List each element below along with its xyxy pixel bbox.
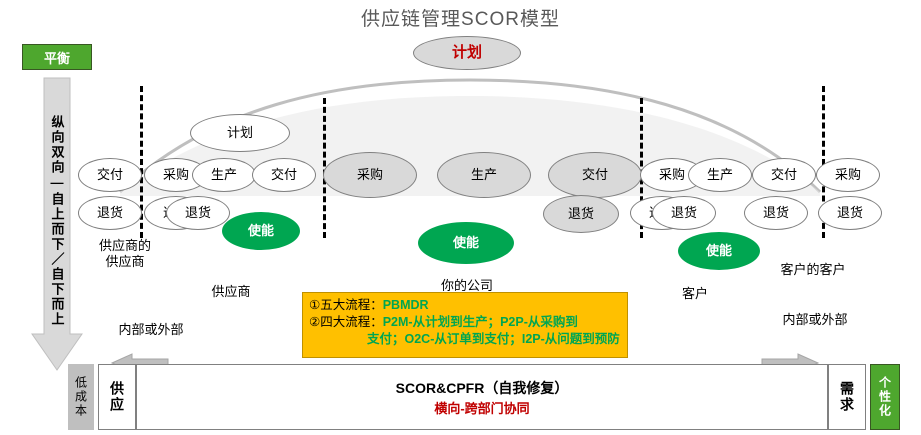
internal-external-left: 内部或外部 — [86, 322, 216, 338]
node-c2-return[interactable]: 退货 — [543, 195, 619, 233]
node-c3-return-2[interactable]: 退货 — [652, 196, 716, 230]
internal-external-right: 内部或外部 — [740, 312, 890, 328]
note-line1-value: PBMDR — [383, 298, 429, 312]
node-c4-source[interactable]: 采购 — [816, 158, 880, 192]
node-c0-deliver[interactable]: 交付 — [78, 158, 142, 192]
node-c1-enable[interactable]: 使能 — [222, 212, 300, 250]
node-c3-make[interactable]: 生产 — [688, 158, 752, 192]
bottom-main-bar: SCOR&CPFR（自我修复） 横向-跨部门协同 — [136, 364, 828, 430]
node-plan-bubble[interactable]: 计划 — [190, 114, 290, 152]
supply-box: 供应 — [98, 364, 136, 430]
note-line1-prefix: ①五大流程： — [309, 298, 383, 312]
note-line3-value: 支付；O2C-从订单到支付；I2P-从问题到预防 — [367, 332, 620, 346]
node-top-plan[interactable]: 计划 — [413, 36, 521, 70]
note-line2-value: P2M-从计划到生产；P2P-从采购到 — [383, 315, 578, 329]
node-c4-return[interactable]: 退货 — [744, 196, 808, 230]
node-c4-return-2[interactable]: 退货 — [818, 196, 882, 230]
scor-diagram: 供应链管理SCOR模型 平衡 纵向双向—自上而下／自下而上 低成本 计划 计划 … — [0, 0, 921, 435]
node-c2-enable[interactable]: 使能 — [418, 222, 514, 264]
caption-supplier: 供应商 — [176, 284, 286, 300]
personalization-box: 个性化 — [870, 364, 900, 430]
bottom-main-line1: SCOR&CPFR（自我修复） — [396, 378, 569, 398]
caption-customers-customer: 客户的客户 — [728, 262, 898, 278]
node-c1-deliver[interactable]: 交付 — [252, 158, 316, 192]
node-c2-source[interactable]: 采购 — [323, 152, 417, 198]
node-c2-make[interactable]: 生产 — [437, 152, 531, 198]
node-c4-deliver[interactable]: 交付 — [752, 158, 816, 192]
bottom-main-line2: 横向-跨部门协同 — [434, 398, 529, 417]
node-c2-deliver[interactable]: 交付 — [548, 152, 642, 198]
process-note: ①五大流程：PBMDR ②四大流程：P2M-从计划到生产；P2P-从采购到 支付… — [302, 292, 628, 358]
node-c1-return-2[interactable]: 退货 — [166, 196, 230, 230]
node-c1-make[interactable]: 生产 — [192, 158, 256, 192]
caption-suppliers-supplier: 供应商的供应商 — [70, 238, 180, 271]
caption-customer: 客户 — [650, 286, 740, 302]
demand-box: 需求 — [828, 364, 866, 430]
node-c0-return[interactable]: 退货 — [78, 196, 142, 230]
note-line2-prefix: ②四大流程： — [309, 315, 383, 329]
